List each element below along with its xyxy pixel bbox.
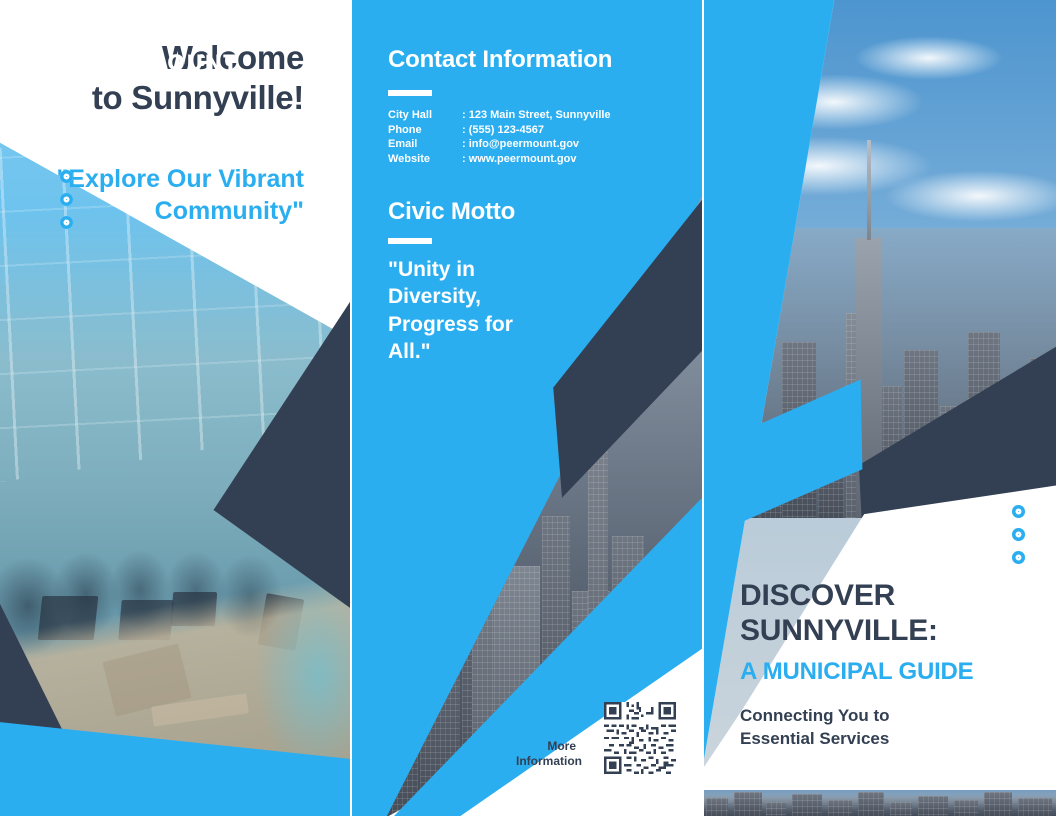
dot-icon: [60, 193, 73, 206]
id-card-icon: [44, 50, 71, 76]
laptop-shape: [171, 592, 217, 626]
laptop-shape: [118, 600, 173, 640]
more-information-label: More Information: [516, 739, 576, 769]
dot-icon: [1012, 505, 1025, 518]
dot-icon: [60, 216, 73, 229]
welcome-line-2: to Sunnyville!: [14, 78, 304, 118]
city-buildings: [704, 790, 1056, 816]
cover-tagline-line-1: Connecting You to: [740, 705, 974, 728]
dot-icon: [1012, 528, 1025, 541]
dot-icon: [1012, 551, 1025, 564]
cover-title-line-2: SUNNYVILLE:: [740, 613, 974, 648]
contact-label-phone: Phone: [388, 123, 462, 138]
cover-subtitle: A MUNICIPAL GUIDE: [740, 658, 974, 687]
contact-label-email: Email: [388, 137, 462, 152]
tower-spire: [867, 140, 871, 240]
bullet-dots-right: [1012, 505, 1025, 564]
contact-value-website: : www.peermount.gov: [462, 152, 611, 167]
contact-value-city-hall: : 123 Main Street, Sunnyville: [462, 108, 611, 123]
motto-heading: Civic Motto: [388, 198, 515, 226]
cover-tagline-line-2: Essential Services: [740, 728, 974, 751]
bullet-dots-left: [60, 170, 73, 229]
bottom-city-strip: [704, 790, 1056, 816]
trifold-brochure: Welcome to Sunnyville! "Explore Our Vibr…: [0, 0, 1056, 816]
brand-name: PEERMOUNT: [80, 51, 239, 75]
panel-middle: Contact Information City Hall : 123 Main…: [352, 0, 702, 816]
panel-left: Welcome to Sunnyville! "Explore Our Vibr…: [0, 0, 350, 816]
tablet-shape: [258, 593, 304, 651]
laptop-shape: [38, 596, 99, 640]
contact-divider: [388, 90, 432, 96]
motto-text: "Unity in Diversity, Progress for All.": [388, 256, 518, 365]
explore-quote: "Explore Our Vibrant Community": [54, 163, 304, 227]
contact-info-list: City Hall : 123 Main Street, Sunnyville …: [388, 108, 611, 166]
panel-divider-1: [350, 0, 352, 816]
motto-divider: [388, 238, 432, 244]
contact-value-email: : info@peermount.gov: [462, 137, 611, 152]
contact-heading: Contact Information: [388, 46, 612, 74]
laptop-shape: [102, 643, 191, 716]
contact-value-phone: : (555) 123-4567: [462, 123, 611, 138]
panel-divider-2: [702, 0, 704, 816]
contact-label-city-hall: City Hall: [388, 108, 462, 123]
qr-code[interactable]: [604, 702, 676, 774]
cover-title-block: DISCOVER SUNNYVILLE: A MUNICIPAL GUIDE C…: [740, 578, 974, 751]
laptop-base-shape: [151, 693, 249, 726]
cloud-shape: [854, 36, 1004, 80]
dot-icon: [60, 170, 73, 183]
cover-title-line-1: DISCOVER: [740, 578, 974, 613]
contact-label-website: Website: [388, 152, 462, 167]
brand-logo[interactable]: PEERMOUNT: [44, 50, 239, 76]
